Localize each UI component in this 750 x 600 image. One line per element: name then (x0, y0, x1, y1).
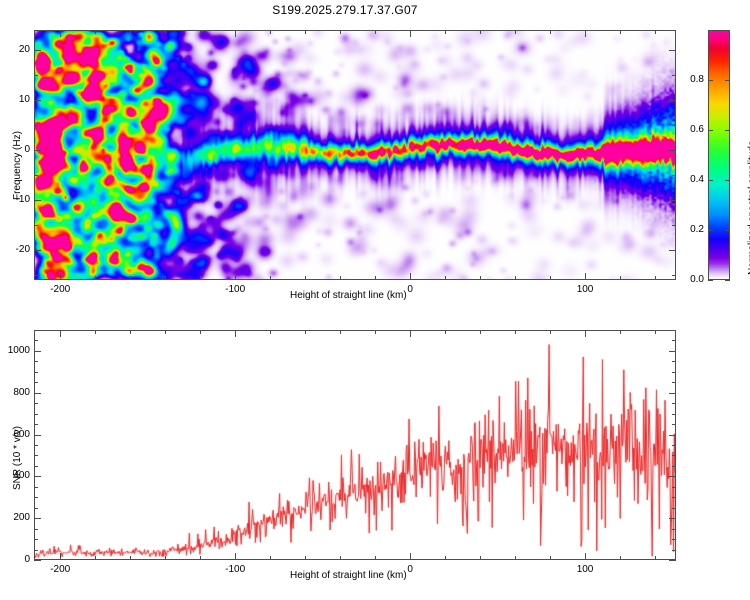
colorbar-tick (708, 180, 713, 181)
colorbar-tick-label: 0.4 (678, 174, 704, 185)
y-minor-tick (672, 508, 676, 509)
x-minor-tick (305, 556, 306, 560)
y-minor-tick (672, 75, 676, 76)
y-minor-tick (34, 175, 38, 176)
y-tick-label: 1000 (0, 345, 30, 356)
x-major-tick (410, 553, 411, 560)
x-major-tick (410, 30, 411, 37)
y-major-tick (669, 518, 676, 519)
x-minor-tick (305, 30, 306, 34)
x-minor-tick (620, 30, 621, 34)
y-minor-tick (34, 550, 38, 551)
y-tick-label: 20 (0, 44, 30, 55)
y-major-tick (34, 100, 41, 101)
x-minor-tick (130, 330, 131, 334)
y-minor-tick (34, 225, 38, 226)
y-major-tick (669, 100, 676, 101)
snr-ylabel: SNR (10 * v/v) (12, 426, 23, 490)
y-minor-tick (672, 424, 676, 425)
y-minor-tick (672, 487, 676, 488)
colorbar-tick-label: 0.0 (678, 274, 704, 285)
y-minor-tick (34, 445, 38, 446)
y-major-tick (669, 476, 676, 477)
colorbar[interactable] (708, 30, 730, 280)
x-minor-tick (305, 330, 306, 334)
x-minor-tick (270, 330, 271, 334)
colorbar-tick (725, 180, 730, 181)
figure-title: S199.2025.279.17.37.G07 (0, 3, 690, 17)
y-minor-tick (34, 403, 38, 404)
x-minor-tick (515, 330, 516, 334)
colorbar-tick (708, 80, 713, 81)
y-minor-tick (34, 75, 38, 76)
colorbar-tick (725, 280, 730, 281)
x-tick-label: -200 (46, 284, 74, 295)
x-minor-tick (340, 330, 341, 334)
y-minor-tick (672, 382, 676, 383)
colorbar-tick (725, 80, 730, 81)
snr-plot-area[interactable] (34, 330, 676, 560)
x-minor-tick (375, 276, 376, 280)
y-major-tick (34, 150, 41, 151)
x-minor-tick (165, 276, 166, 280)
x-minor-tick (130, 276, 131, 280)
y-minor-tick (672, 175, 676, 176)
x-minor-tick (375, 556, 376, 560)
x-minor-tick (620, 556, 621, 560)
y-minor-tick (34, 487, 38, 488)
colorbar-tick-label: 0.2 (678, 224, 704, 235)
x-minor-tick (375, 30, 376, 34)
x-major-tick (410, 330, 411, 337)
spectrogram-ylabel: Frequency (Hz) (12, 131, 23, 200)
x-major-tick (235, 273, 236, 280)
x-minor-tick (445, 556, 446, 560)
y-minor-tick (34, 330, 38, 331)
y-tick-label: 200 (0, 512, 30, 523)
x-minor-tick (480, 276, 481, 280)
y-minor-tick (34, 466, 38, 467)
x-minor-tick (270, 30, 271, 34)
x-minor-tick (550, 330, 551, 334)
x-minor-tick (655, 556, 656, 560)
x-minor-tick (165, 556, 166, 560)
snr-xlabel: Height of straight line (km) (290, 570, 407, 581)
x-major-tick (235, 30, 236, 37)
x-minor-tick (620, 276, 621, 280)
figure-root: S199.2025.279.17.37.G07 -200 (0, 0, 750, 600)
x-minor-tick (550, 556, 551, 560)
snr-canvas (35, 331, 675, 559)
y-major-tick (34, 393, 41, 394)
y-major-tick (669, 435, 676, 436)
x-tick-label: -100 (221, 564, 249, 575)
y-minor-tick (34, 424, 38, 425)
x-major-tick (60, 553, 61, 560)
y-major-tick (669, 560, 676, 561)
x-minor-tick (270, 276, 271, 280)
x-tick-label: -200 (46, 564, 74, 575)
x-minor-tick (340, 276, 341, 280)
x-minor-tick (200, 330, 201, 334)
y-major-tick (669, 351, 676, 352)
y-tick-label: 0 (0, 554, 30, 565)
y-minor-tick (34, 382, 38, 383)
y-minor-tick (672, 225, 676, 226)
y-minor-tick (34, 372, 38, 373)
x-minor-tick (200, 276, 201, 280)
x-minor-tick (340, 30, 341, 34)
y-minor-tick (34, 539, 38, 540)
x-minor-tick (95, 276, 96, 280)
y-minor-tick (672, 445, 676, 446)
x-minor-tick (340, 556, 341, 560)
y-minor-tick (672, 414, 676, 415)
y-minor-tick (672, 539, 676, 540)
x-major-tick (585, 30, 586, 37)
y-major-tick (669, 393, 676, 394)
y-major-tick (669, 200, 676, 201)
x-minor-tick (445, 330, 446, 334)
y-minor-tick (672, 455, 676, 456)
y-minor-tick (34, 125, 38, 126)
x-minor-tick (655, 30, 656, 34)
x-minor-tick (200, 30, 201, 34)
y-minor-tick (34, 508, 38, 509)
y-minor-tick (672, 466, 676, 467)
x-major-tick (585, 273, 586, 280)
x-minor-tick (95, 30, 96, 34)
y-major-tick (34, 250, 41, 251)
x-major-tick (235, 553, 236, 560)
y-major-tick (34, 518, 41, 519)
x-minor-tick (130, 556, 131, 560)
y-major-tick (34, 560, 41, 561)
y-minor-tick (34, 414, 38, 415)
colorbar-tick (708, 280, 713, 281)
x-minor-tick (480, 330, 481, 334)
x-minor-tick (655, 330, 656, 334)
x-major-tick (60, 273, 61, 280)
y-tick-label: -20 (0, 244, 30, 255)
x-tick-label: 100 (571, 564, 599, 575)
y-minor-tick (34, 275, 38, 276)
y-minor-tick (34, 340, 38, 341)
y-minor-tick (34, 497, 38, 498)
x-tick-label: -100 (221, 284, 249, 295)
x-major-tick (60, 30, 61, 37)
x-major-tick (585, 553, 586, 560)
colorbar-tick (708, 130, 713, 131)
x-minor-tick (655, 276, 656, 280)
x-major-tick (585, 330, 586, 337)
y-minor-tick (34, 529, 38, 530)
x-minor-tick (95, 556, 96, 560)
colorbar-tick-label: 0.8 (678, 74, 704, 85)
x-minor-tick (515, 556, 516, 560)
x-minor-tick (515, 30, 516, 34)
colorbar-tick (725, 230, 730, 231)
x-minor-tick (550, 30, 551, 34)
x-major-tick (60, 330, 61, 337)
x-minor-tick (620, 330, 621, 334)
x-minor-tick (515, 276, 516, 280)
x-minor-tick (445, 276, 446, 280)
spectrogram-plot-area[interactable] (34, 30, 676, 280)
x-minor-tick (480, 30, 481, 34)
y-minor-tick (672, 361, 676, 362)
x-minor-tick (480, 556, 481, 560)
x-minor-tick (165, 30, 166, 34)
colorbar-tick (725, 130, 730, 131)
x-tick-label: 100 (571, 284, 599, 295)
x-minor-tick (200, 556, 201, 560)
y-minor-tick (34, 361, 38, 362)
y-tick-label: 10 (0, 94, 30, 105)
y-minor-tick (672, 403, 676, 404)
y-minor-tick (672, 497, 676, 498)
y-minor-tick (672, 550, 676, 551)
y-major-tick (34, 476, 41, 477)
spectrogram-xlabel: Height of straight line (km) (290, 290, 407, 301)
y-minor-tick (672, 340, 676, 341)
x-major-tick (410, 273, 411, 280)
y-minor-tick (672, 529, 676, 530)
x-minor-tick (165, 330, 166, 334)
y-minor-tick (672, 372, 676, 373)
spectrogram-canvas (35, 31, 675, 279)
y-minor-tick (672, 275, 676, 276)
y-minor-tick (34, 455, 38, 456)
colorbar-tick-label: 0.6 (678, 124, 704, 135)
x-minor-tick (95, 330, 96, 334)
y-major-tick (669, 50, 676, 51)
x-minor-tick (445, 30, 446, 34)
y-tick-label: 800 (0, 387, 30, 398)
colorbar-tick (708, 230, 713, 231)
y-major-tick (34, 200, 41, 201)
x-minor-tick (270, 556, 271, 560)
y-major-tick (34, 351, 41, 352)
y-major-tick (669, 150, 676, 151)
y-minor-tick (672, 125, 676, 126)
x-minor-tick (550, 276, 551, 280)
x-minor-tick (305, 276, 306, 280)
y-major-tick (34, 50, 41, 51)
y-minor-tick (672, 330, 676, 331)
y-major-tick (669, 250, 676, 251)
x-minor-tick (375, 330, 376, 334)
x-major-tick (235, 330, 236, 337)
y-major-tick (34, 435, 41, 436)
x-minor-tick (130, 30, 131, 34)
